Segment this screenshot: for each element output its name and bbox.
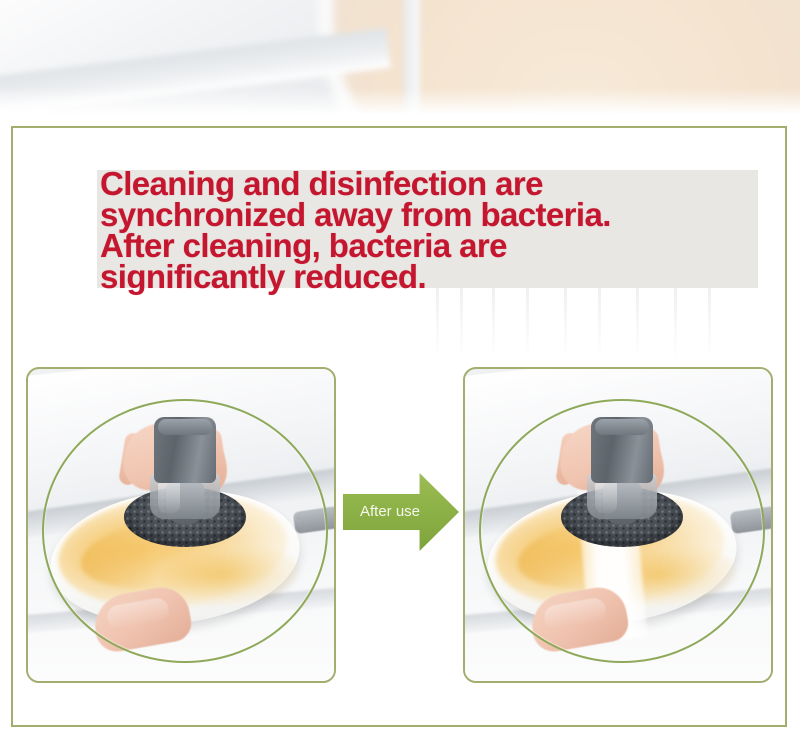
hero-fade-overlay — [0, 88, 800, 122]
green-circle-overlay — [479, 399, 765, 663]
green-circle-overlay — [42, 399, 328, 663]
after-photo-panel — [463, 367, 773, 683]
before-photo-panel — [26, 367, 336, 683]
after-scene — [465, 369, 771, 681]
page-title: Cleaning and disinfection are synchroniz… — [100, 168, 780, 292]
background-streaks — [430, 288, 730, 360]
before-scene — [28, 369, 334, 681]
arrow-label: After use — [351, 501, 429, 523]
after-use-arrow: After use — [343, 473, 459, 551]
hero-photo-strip — [0, 0, 800, 122]
